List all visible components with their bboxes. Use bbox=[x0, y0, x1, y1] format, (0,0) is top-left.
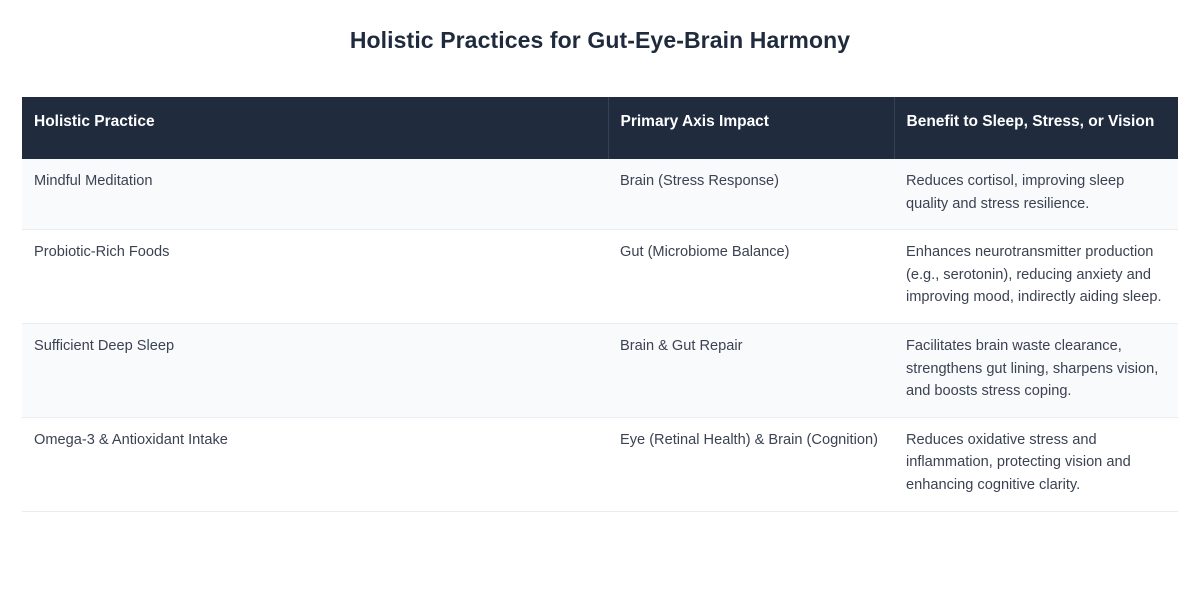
table-container: Holistic Practice Primary Axis Impact Be… bbox=[22, 97, 1178, 512]
page-title: Holistic Practices for Gut-Eye-Brain Har… bbox=[0, 0, 1200, 56]
cell-axis: Eye (Retinal Health) & Brain (Cognition) bbox=[608, 417, 894, 511]
table-header-row: Holistic Practice Primary Axis Impact Be… bbox=[22, 97, 1178, 159]
column-header-benefit[interactable]: Benefit to Sleep, Stress, or Vision bbox=[894, 97, 1178, 159]
cell-axis: Brain (Stress Response) bbox=[608, 159, 894, 230]
table-header: Holistic Practice Primary Axis Impact Be… bbox=[22, 97, 1178, 159]
column-header-primary-axis-impact[interactable]: Primary Axis Impact bbox=[608, 97, 894, 159]
cell-benefit: Reduces oxidative stress and inflammatio… bbox=[894, 417, 1178, 511]
cell-benefit: Facilitates brain waste clearance, stren… bbox=[894, 324, 1178, 418]
table-row: Probiotic-Rich Foods Gut (Microbiome Bal… bbox=[22, 230, 1178, 324]
cell-practice: Probiotic-Rich Foods bbox=[22, 230, 608, 324]
cell-practice: Omega-3 & Antioxidant Intake bbox=[22, 417, 608, 511]
table-row: Mindful Meditation Brain (Stress Respons… bbox=[22, 159, 1178, 230]
cell-benefit: Reduces cortisol, improving sleep qualit… bbox=[894, 159, 1178, 230]
cell-axis: Gut (Microbiome Balance) bbox=[608, 230, 894, 324]
holistic-practices-table: Holistic Practice Primary Axis Impact Be… bbox=[22, 97, 1178, 512]
cell-practice: Mindful Meditation bbox=[22, 159, 608, 230]
table-body: Mindful Meditation Brain (Stress Respons… bbox=[22, 159, 1178, 511]
table-row: Omega-3 & Antioxidant Intake Eye (Retina… bbox=[22, 417, 1178, 511]
cell-practice: Sufficient Deep Sleep bbox=[22, 324, 608, 418]
cell-benefit: Enhances neurotransmitter production (e.… bbox=[894, 230, 1178, 324]
cell-axis: Brain & Gut Repair bbox=[608, 324, 894, 418]
page-root: Holistic Practices for Gut-Eye-Brain Har… bbox=[0, 0, 1200, 600]
column-header-holistic-practice[interactable]: Holistic Practice bbox=[22, 97, 608, 159]
table-row: Sufficient Deep Sleep Brain & Gut Repair… bbox=[22, 324, 1178, 418]
